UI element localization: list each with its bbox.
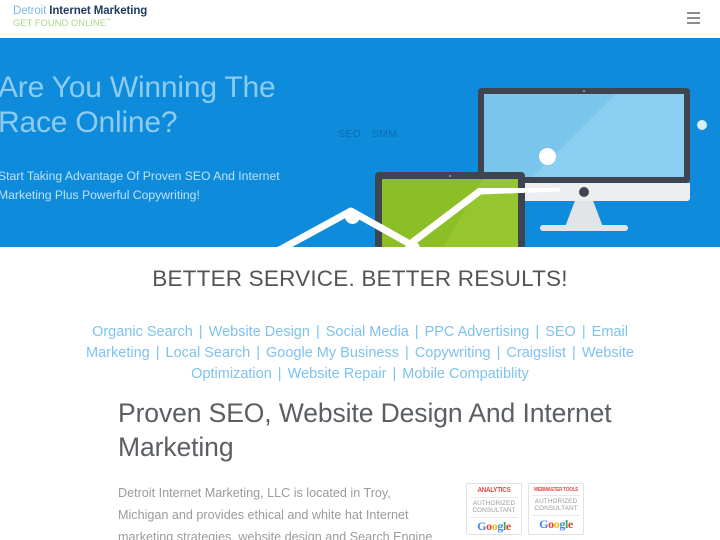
link-separator: | [529,324,545,340]
badge-subtitle-line-1: AUTHORIZED [534,498,577,506]
hero-keyword-seo: SEO [338,128,361,140]
service-links-list: Organic Search | Website Design | Social… [60,322,660,384]
hero-heading-line-1: Are You Winning The [0,70,330,105]
service-link[interactable]: Mobile Compatiblity [402,366,529,382]
monitor-stand-foot [540,225,628,231]
hero-banner: Are You Winning The Race Online? Start T… [0,38,720,247]
badge-divider-2 [470,517,518,518]
section-title: BETTER SERVICE. BETTER RESULTS! [0,266,720,292]
hero-heading-line-2: Race Online? [0,105,330,140]
badge-google-analytics[interactable]: ANALYTICS AUTHORIZED CONSULTANT Google [466,483,522,535]
hamburger-bar-3 [687,22,700,24]
link-separator: | [399,345,415,361]
service-link[interactable]: Local Search [166,345,251,361]
desktop-monitor-illustration [478,88,690,183]
badge-subtitle-line-2: CONSULTANT [534,505,577,513]
link-separator: | [310,324,326,340]
badge-subtitle-line-2: CONSULTANT [472,507,515,515]
badge-title: ANALYTICS [477,486,510,494]
page-title-line-1: Proven SEO, Website Design And [118,398,515,428]
link-separator: | [566,345,582,361]
intro-paragraph: Detroit Internet Marketing, LLC is locat… [118,482,438,540]
hero-keyword-smm: SMM [372,128,397,140]
site-header: Detroit Internet Marketing GET FOUND ONL… [0,0,720,38]
page-title: Proven SEO, Website Design And Internet … [118,396,638,464]
link-separator: | [386,366,402,382]
service-link[interactable]: Craigslist [506,345,566,361]
trademark-symbol: ™ [106,18,112,24]
logo-primary-text: Detroit Internet Marketing [13,6,147,18]
hamburger-bar-2 [687,17,700,19]
service-link[interactable]: Website Design [209,324,310,340]
monitor-stand-neck [565,201,603,227]
service-link[interactable]: Organic Search [92,324,193,340]
logo-word-internet-marketing: Internet Marketing [49,5,147,17]
logo-tagline-text: GET FOUND ONLINE [13,18,106,28]
monitor-logo-knob [579,187,589,197]
badge-google-webmaster-tools[interactable]: WEBMASTER TOOLS AUTHORIZED CONSULTANT Go… [528,483,584,535]
site-logo[interactable]: Detroit Internet Marketing GET FOUND ONL… [13,6,147,28]
page-root: Detroit Internet Marketing GET FOUND ONL… [0,0,720,540]
badge-divider [532,495,580,496]
logo-tagline: GET FOUND ONLINE™ [13,19,147,28]
link-separator: | [250,345,266,361]
chart-node-dot-1 [345,209,360,224]
laptop-camera-icon [449,175,451,177]
laptop-illustration [375,172,525,247]
monitor-camera-icon [583,90,585,92]
service-link[interactable]: Website Repair [288,366,387,382]
service-link[interactable]: Google My Business [266,345,399,361]
badge-subtitle: AUTHORIZED CONSULTANT [534,498,577,513]
chart-node-dot-monitor [539,148,556,165]
link-separator: | [272,366,288,382]
service-link[interactable]: SEO [545,324,576,340]
badge-divider-2 [532,515,580,516]
hamburger-icon[interactable] [687,12,700,24]
google-logo: Google [539,517,573,532]
hero-copy-block: Are You Winning The Race Online? Start T… [0,70,330,205]
monitor-screen [484,94,684,177]
link-separator: | [409,324,425,340]
link-separator: | [150,345,166,361]
certification-badges: ANALYTICS AUTHORIZED CONSULTANT Google W… [466,483,584,535]
badge-subtitle-line-1: AUTHORIZED [472,500,515,508]
link-separator: | [491,345,507,361]
google-logo: Google [477,519,511,534]
service-link[interactable]: PPC Advertising [425,324,530,340]
logo-word-detroit: Detroit [13,5,46,17]
badge-title: WEBMASTER TOOLS [534,487,578,493]
laptop-frame [375,172,525,247]
laptop-screen [382,179,518,247]
monitor-frame [478,88,690,183]
decorative-dot-icon [697,120,707,130]
service-link[interactable]: Social Media [326,324,409,340]
hero-subheading: Start Taking Advantage Of Proven SEO And… [0,167,288,205]
hamburger-bar-1 [687,12,700,14]
badge-divider [470,497,518,498]
link-separator: | [193,324,209,340]
service-link[interactable]: Copywriting [415,345,491,361]
badge-subtitle: AUTHORIZED CONSULTANT [472,500,515,515]
link-separator: | [576,324,592,340]
